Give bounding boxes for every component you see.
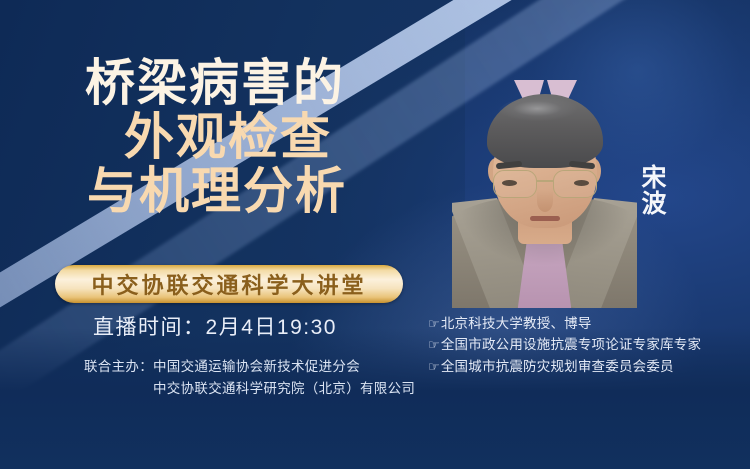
credential-row-1: ☞ 北京科技大学教授、博导 <box>428 313 701 334</box>
title-line-1: 桥梁病害的 <box>0 58 430 109</box>
speaker-credentials: ☞ 北京科技大学教授、博导 ☞ 全国市政公用设施抗震专项论证专家库专家 ☞ 全国… <box>428 313 701 377</box>
glasses-lens-right <box>553 170 597 198</box>
page-title: 桥梁病害的 外观检查 与机理分析 <box>0 58 430 220</box>
series-banner: 中交协联交通科学大讲堂 <box>55 265 403 303</box>
credential-row-3: ☞ 全国城市抗震防灾规划审查委员会委员 <box>428 356 701 377</box>
title-line-3: 与机理分析 <box>0 166 430 217</box>
glasses-bridge <box>536 180 554 182</box>
organizer-indent-spacer <box>84 378 153 400</box>
series-banner-label: 中交协联交通科学大讲堂 <box>91 268 366 300</box>
speaker-mouth <box>530 216 560 221</box>
speaker-name: 宋波 <box>636 155 668 225</box>
credential-row-2: ☞ 全国市政公用设施抗震专项论证专家库专家 <box>428 334 701 355</box>
organizers-block: 联合主办： 中国交通运输协会新技术促进分会 中交协联交通科学研究院（北京）有限公… <box>84 356 434 400</box>
organizer-name-1: 中国交通运输协会新技术促进分会 <box>153 356 360 378</box>
speaker-photo-inner <box>452 78 637 308</box>
glasses-lens-left <box>493 170 537 198</box>
speaker-hair-highlight <box>497 96 593 132</box>
pointing-hand-icon: ☞ <box>428 314 440 334</box>
credential-text-1: 北京科技大学教授、博导 <box>441 313 592 334</box>
credential-text-3: 全国城市抗震防灾规划审查委员会委员 <box>441 356 674 377</box>
organizer-row-1: 联合主办： 中国交通运输协会新技术促进分会 <box>84 356 434 378</box>
pointing-hand-icon: ☞ <box>428 335 440 355</box>
webinar-poster: 桥梁病害的 外观检查 与机理分析 中交协联交通科学大讲堂 直播时间：2月4日19… <box>0 0 750 469</box>
pointing-hand-icon: ☞ <box>428 357 440 377</box>
speaker-photo <box>452 78 637 308</box>
credential-text-2: 全国市政公用设施抗震专项论证专家库专家 <box>441 334 701 355</box>
live-time: 直播时间：2月4日19:30 <box>0 311 430 341</box>
title-line-2: 外观检查 <box>0 112 430 163</box>
organizers-label: 联合主办： <box>84 356 153 378</box>
speaker-nose <box>537 190 553 212</box>
organizer-row-2: 中交协联交通科学研究院（北京）有限公司 <box>84 378 434 400</box>
organizer-name-2: 中交协联交通科学研究院（北京）有限公司 <box>153 378 415 400</box>
